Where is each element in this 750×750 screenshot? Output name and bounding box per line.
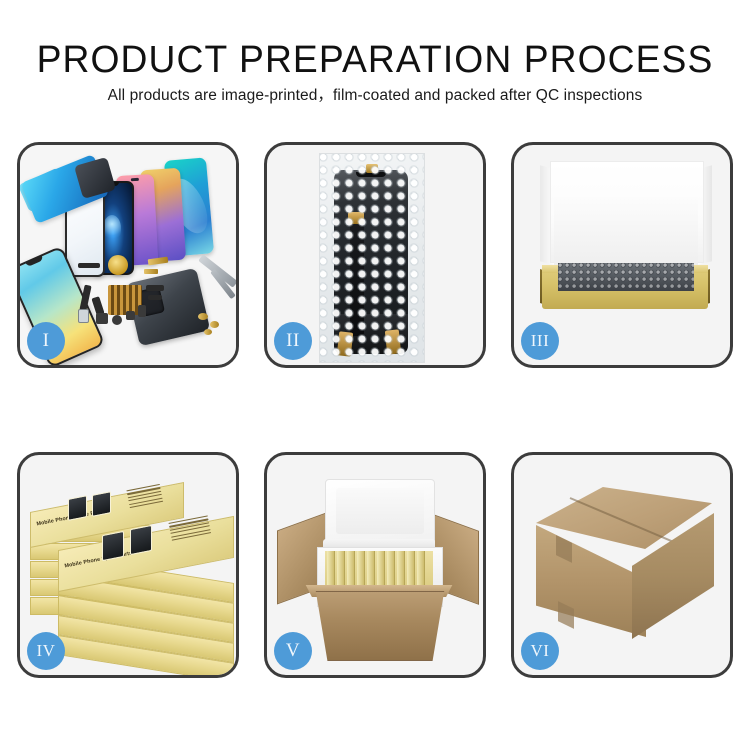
step-badge-2: II <box>274 322 312 360</box>
process-step-grid: I II III <box>17 142 733 678</box>
bubble-wrap-padding <box>558 263 694 291</box>
retail-box-window <box>68 495 87 521</box>
process-step-panel-6: VI <box>511 452 733 678</box>
screw-part <box>198 313 208 320</box>
camera-module-part <box>96 313 108 324</box>
button-part <box>112 315 122 325</box>
step-badge-5: V <box>274 632 312 670</box>
screw-part <box>204 329 212 335</box>
page-subtitle: All products are image-printed，film-coat… <box>0 86 750 106</box>
flex-cable-part <box>148 295 162 300</box>
box-inner-wall <box>554 197 698 265</box>
step-badge-6: VI <box>521 632 559 670</box>
bubble-wrap-bag <box>319 153 425 363</box>
step-badge-1: I <box>27 322 65 360</box>
flex-cable-part <box>146 285 164 291</box>
retail-box-window <box>102 531 124 561</box>
speaker-coil-part <box>108 255 128 275</box>
sim-tray-part <box>78 309 89 323</box>
small-component-part <box>138 305 146 317</box>
retail-box-window <box>130 525 152 555</box>
flex-cable-part <box>78 263 100 268</box>
retail-box-window <box>92 491 111 517</box>
gold-connector-part <box>144 269 158 274</box>
process-step-panel-2: II <box>264 142 486 368</box>
page-title: PRODUCT PREPARATION PROCESS <box>8 40 743 80</box>
process-step-panel-4: Mobile Phone Spare Parts Mobile Phone Sp… <box>17 452 239 678</box>
carton-front-face <box>307 591 453 661</box>
small-component-part <box>126 311 135 320</box>
process-step-panel-1: I <box>17 142 239 368</box>
header: PRODUCT PREPARATION PROCESS All products… <box>0 0 750 128</box>
process-step-panel-5: V <box>264 452 486 678</box>
bubble-texture <box>320 154 424 362</box>
step-badge-4: IV <box>27 632 65 670</box>
step-badge-3: III <box>521 322 559 360</box>
screw-part <box>210 321 219 328</box>
process-step-panel-3: III <box>511 142 733 368</box>
ic-chip-part <box>108 285 142 315</box>
